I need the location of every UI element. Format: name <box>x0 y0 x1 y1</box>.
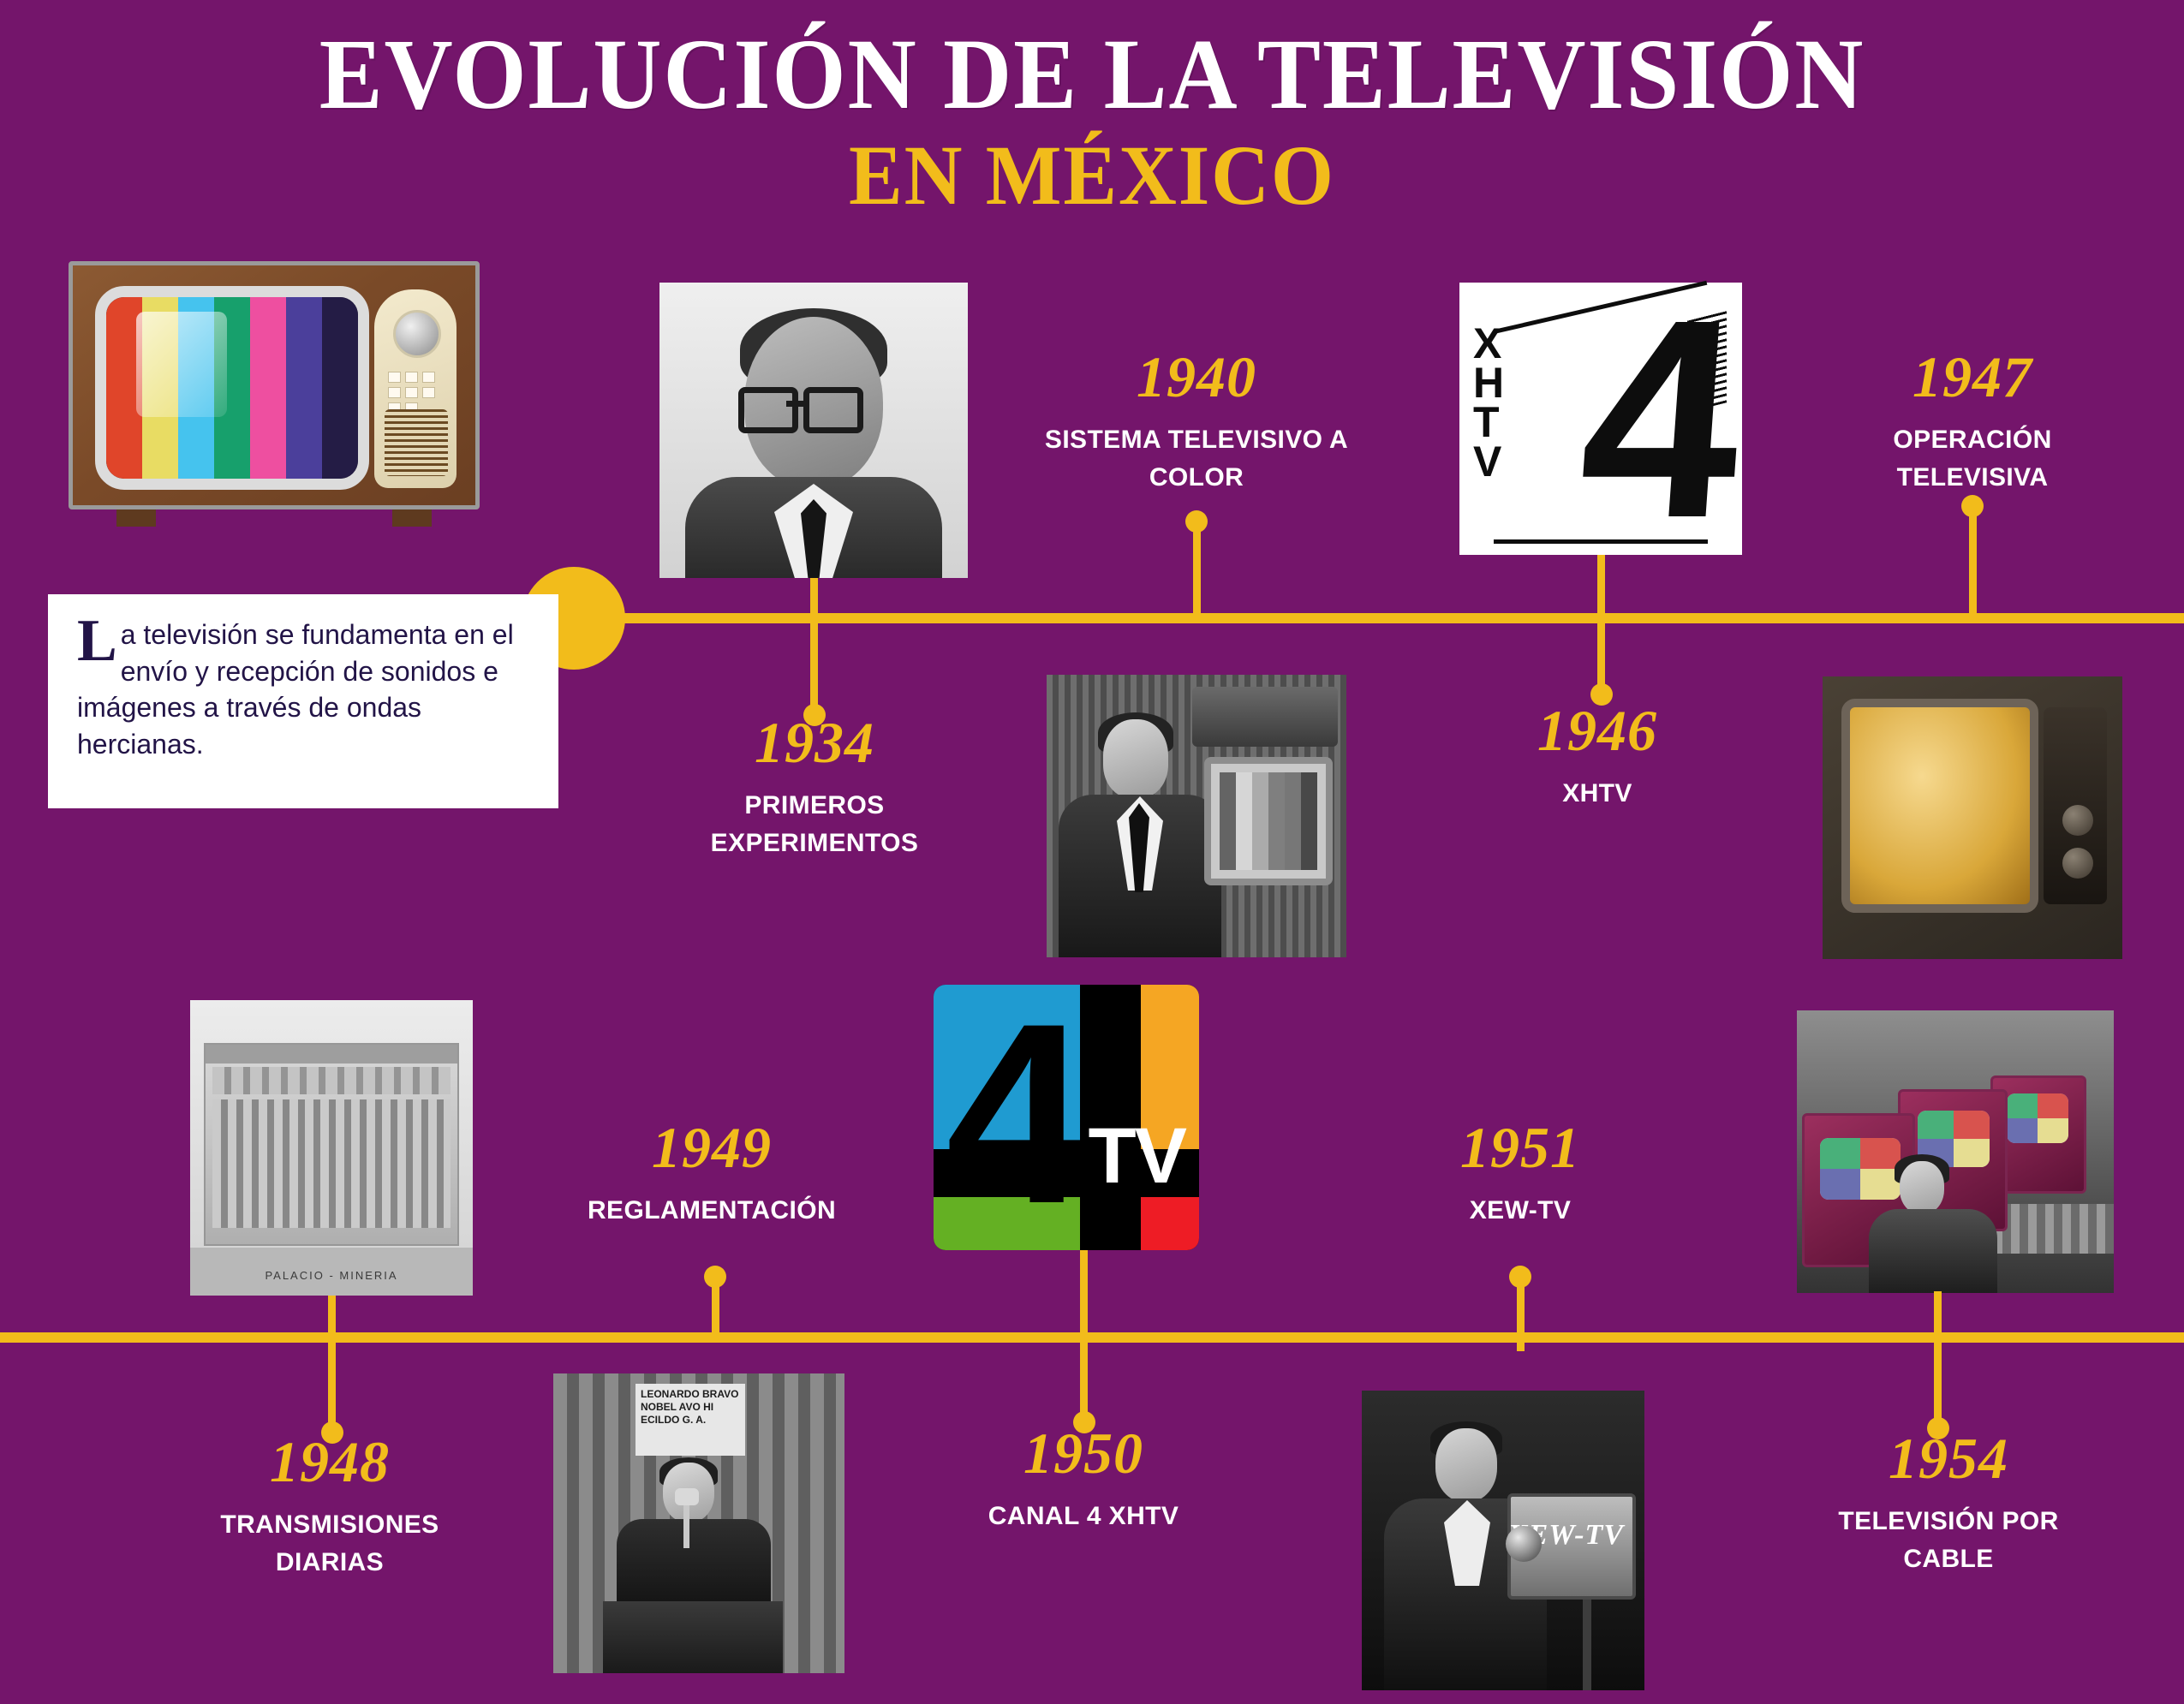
photo-1934-portrait <box>659 283 968 578</box>
podium-sign: LEONARDO BRAVO NOBEL AVO HI ECILDO G. A. <box>636 1384 745 1456</box>
tv-button-grid <box>388 372 445 414</box>
title-line-2: EN MÉXICO <box>66 130 2119 220</box>
stem-1946 <box>1597 555 1605 694</box>
entry-1950: 1950 CANAL 4 XHTV <box>934 1423 1233 1535</box>
label-1951: XEW-TV <box>1370 1192 1670 1230</box>
label-1948: TRANSMISIONES DIARIAS <box>180 1506 480 1581</box>
label-1947: OPERACIÓN TELEVISIVA <box>1814 421 2131 496</box>
year-1949: 1949 <box>553 1117 870 1178</box>
entry-1951: 1951 XEW-TV <box>1370 1117 1670 1230</box>
entry-1934: 1934 PRIMEROS EXPERIMENTOS <box>656 712 973 861</box>
tv-dial-knob <box>393 310 441 358</box>
year-1948: 1948 <box>180 1432 480 1492</box>
entry-1946: 1946 XHTV <box>1447 700 1747 813</box>
year-1934: 1934 <box>656 712 973 773</box>
logo-canal4-1950: 4 TV <box>934 985 1199 1250</box>
xhtv-letters: XHTV <box>1473 324 1502 481</box>
label-1950: CANAL 4 XHTV <box>934 1498 1233 1535</box>
stem-1949 <box>712 1276 719 1340</box>
screen-glare <box>136 312 227 417</box>
photo-1951-xew-camera: XEW-TV <box>1362 1391 1644 1690</box>
label-1954: TELEVISIÓN POR CABLE <box>1790 1503 2107 1577</box>
entry-1948: 1948 TRANSMISIONES DIARIAS <box>180 1432 480 1581</box>
title-line-1: EVOLUCIÓN DE LA TELEVISIÓN <box>66 24 2119 125</box>
logo-xhtv-1946: 4 XHTV <box>1459 283 1742 555</box>
year-1954: 1954 <box>1790 1428 2107 1489</box>
entry-1947: 1947 OPERACIÓN TELEVISIVA <box>1814 347 2131 496</box>
intro-dropcap: L <box>77 623 117 659</box>
stem-1948 <box>328 1296 336 1433</box>
stem-1940 <box>1193 521 1201 619</box>
year-1950: 1950 <box>934 1423 1233 1484</box>
intro-text-card: La televisión se fundamenta en el envío … <box>48 594 558 808</box>
retro-tv-icon <box>69 261 480 527</box>
intro-body: a televisión se fundamenta en el envío y… <box>77 619 514 760</box>
photo-1949-podium: LEONARDO BRAVO NOBEL AVO HI ECILDO G. A. <box>553 1373 844 1673</box>
label-1940: SISTEMA TELEVISIVO A COLOR <box>1021 421 1372 496</box>
tv-screen <box>95 286 369 490</box>
year-1940: 1940 <box>1021 347 1372 408</box>
stem-1934 <box>810 578 818 715</box>
stem-1947 <box>1969 505 1977 621</box>
infographic-canvas: EVOLUCIÓN DE LA TELEVISIÓN EN MÉXICO <box>0 0 2184 1704</box>
stem-1954 <box>1934 1291 1942 1428</box>
photo-1940-color-tv <box>1047 675 1346 957</box>
label-1946: XHTV <box>1447 775 1747 813</box>
palacio-caption: PALACIO - MINERIA <box>190 1269 473 1282</box>
photo-1947-tv-set <box>1823 676 2122 959</box>
year-1946: 1946 <box>1447 700 1747 761</box>
tv-foot-right <box>392 508 432 527</box>
stem-1950 <box>1080 1250 1088 1421</box>
entry-1954: 1954 TELEVISIÓN POR CABLE <box>1790 1428 2107 1577</box>
tv-control-panel <box>374 289 456 488</box>
intro-paragraph: La televisión se fundamenta en el envío … <box>77 617 533 762</box>
page-title: EVOLUCIÓN DE LA TELEVISIÓN EN MÉXICO <box>0 24 2184 220</box>
tv-cabinet <box>69 261 480 509</box>
label-1934: PRIMEROS EXPERIMENTOS <box>656 787 973 861</box>
tv-speaker-grill <box>385 409 448 476</box>
year-1947: 1947 <box>1814 347 2131 408</box>
photo-1948-palacio-mineria: PALACIO - MINERIA <box>190 1000 473 1296</box>
entry-1949: 1949 REGLAMENTACIÓN <box>553 1117 870 1230</box>
stem-1951 <box>1517 1276 1525 1351</box>
photo-1954-factory <box>1797 1010 2114 1293</box>
label-1949: REGLAMENTACIÓN <box>553 1192 870 1230</box>
canal4-tv-text: TV <box>1088 1117 1185 1195</box>
tv-foot-left <box>116 508 156 527</box>
entry-1940: 1940 SISTEMA TELEVISIVO A COLOR <box>1021 347 1372 496</box>
year-1951: 1951 <box>1370 1117 1670 1178</box>
